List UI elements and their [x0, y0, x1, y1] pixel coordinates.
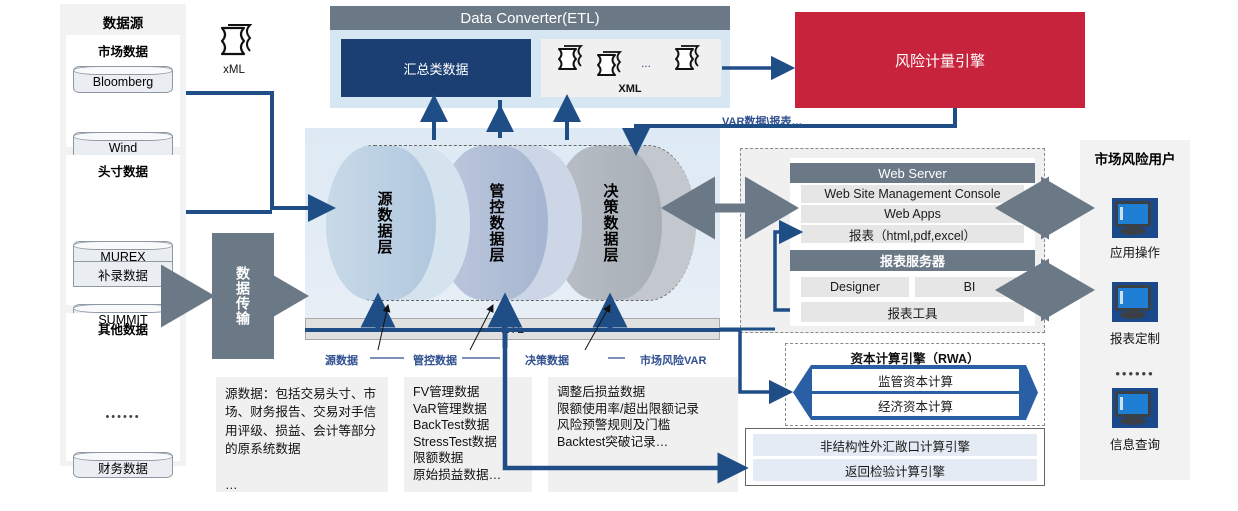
db-finance-label: 财务数据 [98, 453, 148, 477]
data-transfer-label: 数据传输 [233, 266, 253, 326]
user-item-3-label: 信息查询 [1095, 434, 1175, 453]
xml-icon-label: xML [206, 64, 262, 76]
web-row-apps-label: Web Apps [884, 207, 941, 221]
db-supplement-label: 补录数据 [98, 265, 148, 284]
group-title-market: 市场数据 [66, 41, 180, 60]
rwa-row-economic-label: 经济资本计算 [878, 396, 953, 415]
user-item-1[interactable]: 应用操作 [1095, 198, 1175, 261]
extra-row-backtest[interactable]: 返回检验计算引擎 [753, 459, 1037, 481]
db-supplement[interactable]: 补录数据 [73, 261, 173, 287]
report-col-designer-label: Designer [830, 280, 880, 294]
layer-source-label-wrap: 源数据层 [344, 150, 424, 296]
group-title-position: 头寸数据 [66, 161, 180, 180]
web-row-report[interactable]: 报表（html,pdf,excel） [801, 225, 1024, 243]
xml-files-ellipsis: ... [635, 56, 657, 70]
db-wind-label: Wind [109, 136, 137, 155]
xml-group-label: XML [575, 83, 685, 95]
rwa-row-regulatory[interactable]: 监管资本计算 [812, 369, 1019, 391]
web-row-console-label: Web Site Management Console [824, 187, 1000, 201]
xml-file-icon-3 [668, 44, 702, 76]
web-row-report-label: 报表（html,pdf,excel） [849, 225, 976, 244]
datasource-title: 数据源 [60, 12, 186, 32]
extra-row-fx-label: 非结构性外汇敞口计算引擎 [820, 436, 970, 455]
rwa-row-regulatory-label: 监管资本计算 [878, 371, 953, 390]
user-item-2-label: 报表定制 [1095, 328, 1175, 347]
callout-note-source: 源数据：包括交易头寸、市场、财务报告、交易对手信用评级、损益、会计等部分的原系统… [216, 377, 388, 492]
callout-note-decision: 调整后损益数据 限额使用率/超出限额记录 风险预警规则及门槛 Backtest突… [548, 377, 738, 492]
layer-decision-label: 决策数据层 [600, 183, 621, 263]
callout-tag-source: 源数据 [325, 352, 358, 368]
user-item-3[interactable]: 信息查询 [1095, 388, 1175, 453]
db-summit-label: SUMMIT [98, 308, 147, 327]
callout-tag-control: 管控数据 [413, 352, 457, 368]
rwa-row-economic[interactable]: 经济资本计算 [812, 394, 1019, 416]
db-bloomberg-label: Bloomberg [93, 70, 153, 89]
monitor-icon [1112, 388, 1158, 428]
etl-bar: ETL [305, 318, 720, 340]
report-server-header: 报表服务器 [790, 250, 1035, 271]
xml-file-icon-1 [551, 44, 585, 76]
xml-icon [212, 22, 256, 64]
report-col-bi[interactable]: BI [915, 277, 1024, 297]
users-title: 市场风险用户 [1080, 148, 1190, 168]
architecture-diagram: 数据源 市场数据 Bloomberg Wind 头寸数据 MUREX SUMMI… [0, 0, 1238, 511]
datasource-ellipsis: •••••• [73, 411, 173, 423]
web-server-title: Web Server [878, 166, 946, 181]
web-server-header: Web Server [790, 163, 1035, 183]
extra-row-fx[interactable]: 非结构性外汇敞口计算引擎 [753, 434, 1037, 456]
report-tool-row[interactable]: 报表工具 [801, 302, 1024, 322]
layer-control-label: 管控数据层 [486, 183, 507, 263]
monitor-icon [1112, 282, 1158, 322]
monitor-icon [1112, 198, 1158, 238]
user-item-1-label: 应用操作 [1095, 242, 1175, 261]
report-tool-label: 报表工具 [887, 303, 937, 322]
summary-data-label: 汇总类数据 [403, 59, 468, 78]
web-row-apps[interactable]: Web Apps [801, 205, 1024, 223]
extra-row-backtest-label: 返回检验计算引擎 [845, 461, 945, 480]
report-col-designer[interactable]: Designer [801, 277, 909, 297]
data-converter-title: Data Converter(ETL) [460, 10, 599, 27]
users-ellipsis: •••••• [1095, 366, 1175, 381]
risk-engine-box[interactable]: 风险计量引擎 [795, 12, 1085, 108]
web-row-console[interactable]: Web Site Management Console [801, 185, 1024, 203]
xml-file-icon-2 [590, 50, 624, 82]
summary-data-box[interactable]: 汇总类数据 [341, 39, 531, 97]
data-transfer-box: 数据传输 [212, 233, 274, 359]
var-flow-label: VAR数据\报表… [722, 113, 882, 129]
callout-tag-decision: 决策数据 [525, 352, 569, 368]
user-item-2[interactable]: 报表定制 [1095, 282, 1175, 347]
callout-tag-var: 市场风险VAR [640, 352, 706, 368]
layer-decision-label-wrap: 决策数据层 [570, 150, 650, 296]
etl-bar-label: ETL [501, 322, 524, 336]
db-finance[interactable]: 财务数据 [73, 452, 173, 478]
report-server-title: 报表服务器 [880, 251, 945, 270]
callout-note-control: FV管理数据 VaR管理数据 BackTest数据 StressTest数据 限… [404, 377, 532, 492]
db-bloomberg[interactable]: Bloomberg [73, 66, 173, 93]
data-converter-header: Data Converter(ETL) [330, 6, 730, 30]
db-murex-label: MUREX [100, 245, 145, 264]
report-col-bi-label: BI [964, 280, 976, 294]
layer-source-label: 源数据层 [374, 191, 395, 255]
risk-engine-label: 风险计量引擎 [895, 50, 985, 71]
